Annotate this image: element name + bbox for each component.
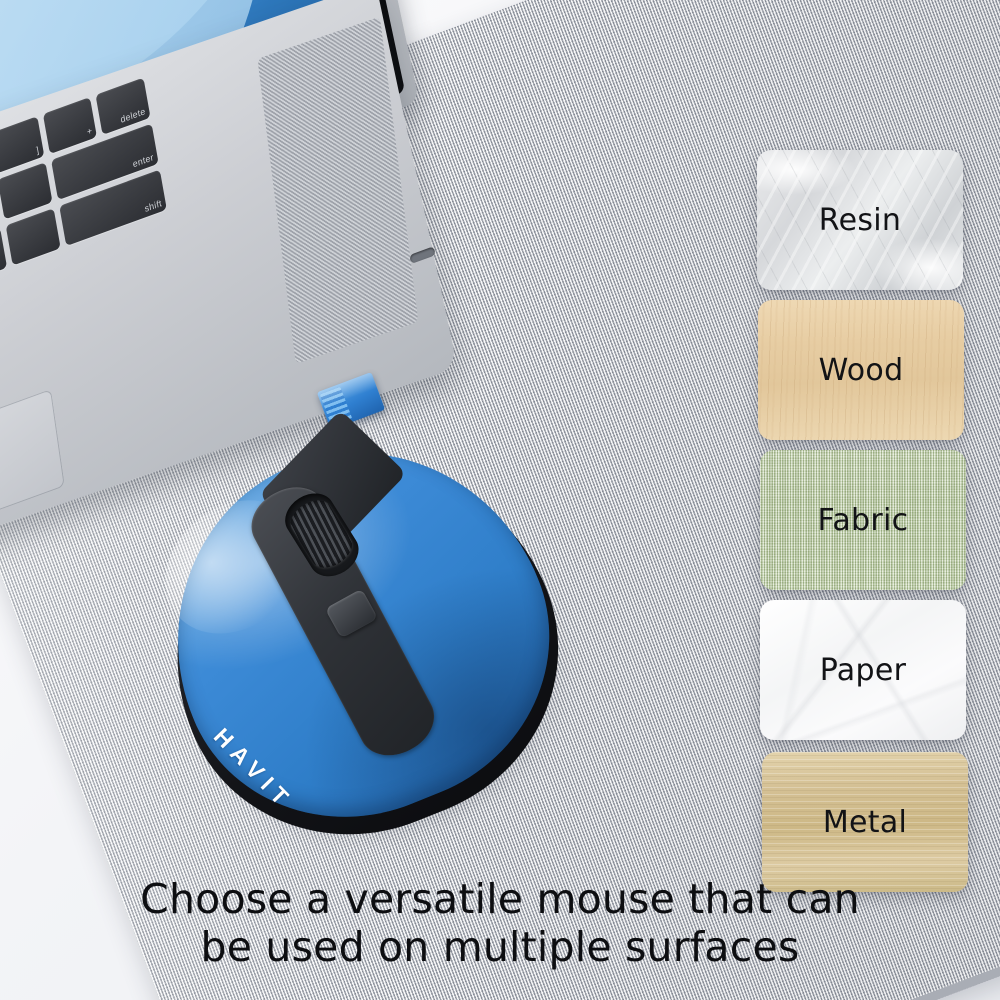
surface-card-paper: Paper: [760, 600, 966, 740]
surface-card-label: Metal: [762, 752, 968, 892]
surface-card-wood: Wood: [758, 300, 964, 440]
surface-card-metal: Metal: [762, 752, 968, 892]
caption-line-2: be used on multiple surfaces: [0, 924, 1000, 972]
surface-card-label: Paper: [760, 600, 966, 740]
caption-line-1: Choose a versatile mouse that can: [140, 875, 860, 923]
surface-card-label: Fabric: [760, 450, 966, 590]
caption: Choose a versatile mouse that can be use…: [0, 876, 1000, 971]
laptop-usb-port: [409, 246, 435, 264]
surface-card-resin: Resin: [757, 150, 963, 290]
surface-card-fabric: Fabric: [760, 450, 966, 590]
laptop-trackpad: [0, 389, 65, 558]
keyboard-key: [6, 208, 61, 265]
surface-card-label: Wood: [758, 300, 964, 440]
keyboard-key: [0, 228, 7, 285]
product-scene: O ´ P [ ] + delete – ‘ ’ \ enter return …: [0, 0, 1000, 1000]
surface-card-label: Resin: [757, 150, 963, 290]
